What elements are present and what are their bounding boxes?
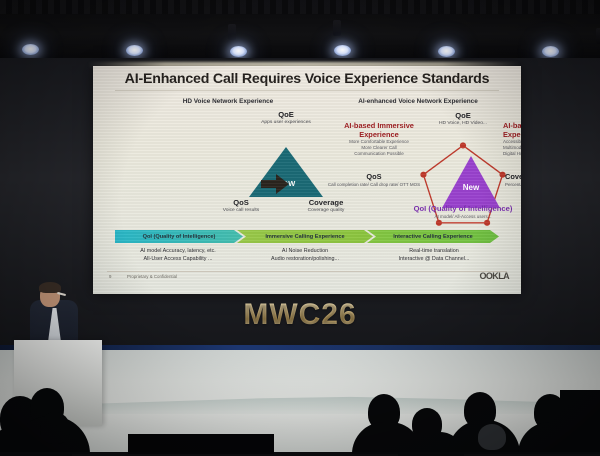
audience-head	[478, 424, 506, 450]
left-qoe-title: QoE	[236, 111, 336, 120]
right-panel-heading: AI-enhanced Voice Network Experience	[323, 98, 513, 105]
ceiling-spotlight	[334, 45, 351, 56]
ai-immersive-sub: More Comfortable Experience More Clearer…	[333, 139, 425, 156]
right-coverage-label: Coverage Percentage of HD voice/Latency	[505, 173, 521, 187]
new-triangle-shape	[442, 156, 500, 208]
ceiling-spotlight	[126, 45, 143, 56]
transition-arrow	[261, 174, 289, 199]
conference-stage-photo: AI-Enhanced Call Requires Voice Experien…	[0, 0, 600, 452]
bottom-column-3: Real-time translation Interactive @ Data…	[369, 247, 499, 263]
left-qoe-label: QoE Apps user experiences	[236, 111, 336, 126]
right-coverage-sub: Percentage of HD voice/Latency	[505, 182, 521, 188]
audience-laptop	[128, 434, 274, 454]
new-triangle-label: New	[442, 183, 500, 192]
footer-divider	[107, 271, 507, 272]
left-coverage-label: Coverage Coverage quality	[285, 199, 367, 214]
ai-interaction-sub: Accessible communication Multimodal comm…	[503, 139, 521, 156]
bottom-col3-line1: Real-time translation	[369, 247, 499, 255]
audience-head	[40, 412, 70, 444]
left-coverage-sub: Coverage quality	[285, 208, 367, 214]
ookla-logo: OOKLA	[480, 271, 510, 281]
bottom-column-2: AI Noise Reduction Audio restoration/pol…	[245, 247, 365, 263]
ai-interaction-experience-label: AI-based Interaction Experience Accessib…	[503, 122, 521, 156]
chevron-qoi-label: QoI (Quality of Intelligence)	[143, 234, 216, 240]
bottom-col1-line1: AI model Accuracy, latency, etc.	[113, 247, 243, 255]
ceiling-spotlight	[230, 46, 247, 57]
bottom-col2-line2: Audio restoration/polishing...	[245, 255, 365, 263]
left-coverage-title: Coverage	[285, 199, 367, 208]
left-qos-label: QoS Voice call results	[201, 199, 281, 214]
chevron-immersive[interactable]: Immersive Calling Experience	[237, 230, 373, 243]
right-coverage-title: Coverage	[505, 173, 521, 182]
qoi-title: QoI (Quality of Intelligence)	[378, 205, 521, 214]
ai-immersive-experience-label: AI-based Immersive Experience More Comfo…	[333, 122, 425, 156]
ai-interaction-title: AI-based Interaction Experience	[503, 122, 521, 139]
right-qos-label: QoS Call completion rate/ Call drop rate…	[325, 173, 423, 187]
ceiling-spotlight	[22, 44, 39, 55]
confidentiality-notice: Proprietary & Confidential	[127, 274, 177, 279]
ceiling-spotlight	[542, 46, 559, 57]
right-qos-title: QoS	[325, 173, 423, 182]
qoi-sub: AI model/ All-Access users...	[378, 214, 521, 220]
slide-page-number: 9	[109, 274, 111, 279]
left-qoe-sub: Apps user experiences	[236, 120, 336, 126]
left-panel-heading: HD Voice Network Experience	[133, 98, 323, 105]
lighting-truss	[0, 0, 600, 14]
projected-slide: AI-Enhanced Call Requires Voice Experien…	[93, 66, 521, 294]
bottom-column-1: AI model Accuracy, latency, etc. All-Use…	[113, 247, 243, 263]
chevron-interactive-label: Interactive Calling Experience	[393, 234, 473, 240]
bottom-col2-line1: AI Noise Reduction	[245, 247, 365, 255]
right-qoe-label: QoE HD Voice, HD Video...	[413, 112, 513, 127]
title-divider	[115, 90, 499, 91]
chevron-band: QoI (Quality of Intelligence) Immersive …	[115, 230, 499, 243]
right-qoe-title: QoE	[413, 112, 513, 121]
right-qos-sub: Call completion rate/ Call drop rate/ OT…	[325, 182, 423, 188]
chevron-interactive[interactable]: Interactive Calling Experience	[367, 230, 499, 243]
chevron-immersive-label: Immersive Calling Experience	[265, 234, 344, 240]
left-qos-title: QoS	[201, 199, 281, 208]
ai-immersive-title: AI-based Immersive Experience	[333, 122, 425, 139]
qoi-label: QoI (Quality of Intelligence) AI model/ …	[378, 205, 521, 220]
mwc-event-logo: MWC26	[0, 298, 600, 332]
ceiling	[0, 0, 600, 62]
ceiling-spotlight	[438, 46, 455, 57]
audience-block-right	[560, 390, 600, 454]
chevron-qoi[interactable]: QoI (Quality of Intelligence)	[115, 230, 243, 243]
right-arrow-icon	[261, 174, 289, 194]
slide-title: AI-Enhanced Call Requires Voice Experien…	[93, 71, 521, 87]
bottom-col1-line2: All-User Access Capability ...	[113, 255, 243, 263]
bottom-col3-line2: Interactive @ Data Channel...	[369, 255, 499, 263]
left-qos-sub: Voice call results	[201, 208, 281, 214]
right-qoe-sub: HD Voice, HD Video...	[413, 121, 513, 127]
